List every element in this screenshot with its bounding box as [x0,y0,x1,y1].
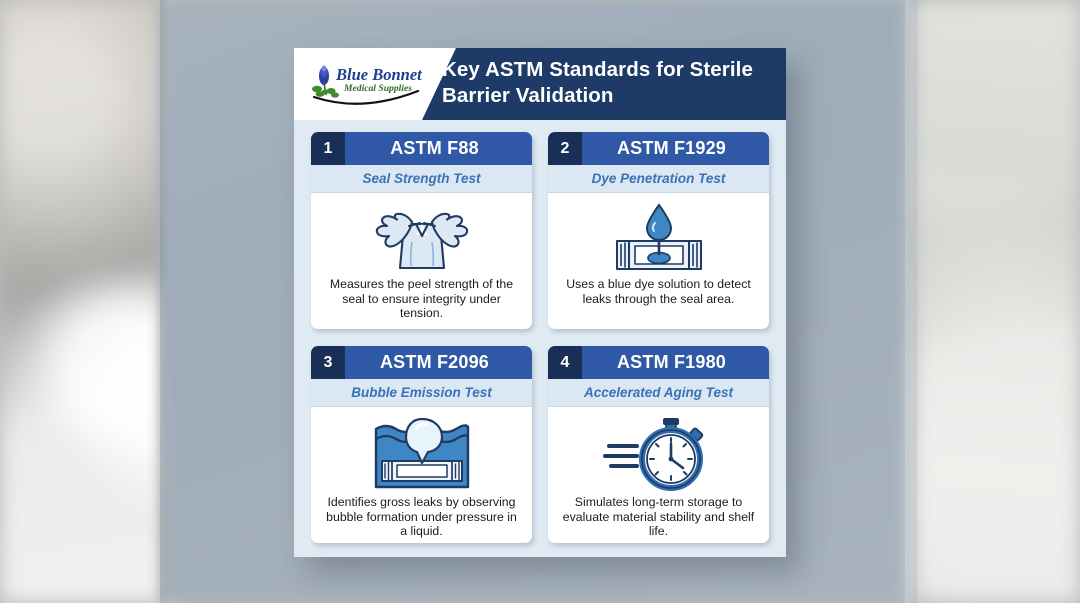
blue-bonnet-logo-icon: Blue Bonnet Medical Supplies [306,61,428,109]
card-description: Measures the peel strength of the seal t… [319,277,524,321]
hands-peeling-pouch-icon [354,201,490,275]
card-number-badge: 2 [548,132,582,165]
panel-header: Blue Bonnet Medical Supplies Key ASTM St… [294,48,786,120]
card-standard-title: ASTM F1929 [582,132,769,165]
svg-text:Blue Bonnet: Blue Bonnet [335,65,422,84]
card-standard-title: ASTM F2096 [345,346,532,379]
card-subtitle: Bubble Emission Test [311,379,532,407]
background-left-bokeh [0,0,168,603]
card-description: Uses a blue dye solution to detect leaks… [556,277,761,306]
card-subtitle: Accelerated Aging Test [548,379,769,407]
page-title: Key ASTM Standards for Sterile Barrier V… [442,57,774,109]
card-astm-f1929[interactable]: 2 ASTM F1929 Dye Penetration Test [548,132,769,329]
card-number-badge: 4 [548,346,582,379]
background-right-wall [912,0,1080,603]
background-seam-left [160,0,170,603]
card-subtitle: Dye Penetration Test [548,165,769,193]
stopwatch-motion-icon [603,415,715,493]
card-body: Measures the peel strength of the seal t… [311,193,532,329]
card-astm-f88[interactable]: 1 ASTM F88 Seal Strength Test [311,132,532,329]
card-astm-f2096[interactable]: 3 ASTM F2096 Bubble Emission Test [311,346,532,543]
card-header: 3 ASTM F2096 [311,346,532,379]
card-standard-title: ASTM F88 [345,132,532,165]
card-body: Identifies gross leaks by observing bubb… [311,407,532,543]
card-body: Simulates long-term storage to evaluate … [548,407,769,543]
card-description: Identifies gross leaks by observing bubb… [319,495,524,539]
card-description: Simulates long-term storage to evaluate … [556,495,761,539]
card-number-badge: 3 [311,346,345,379]
infographic-panel: Blue Bonnet Medical Supplies Key ASTM St… [294,48,786,557]
svg-text:Medical Supplies: Medical Supplies [343,83,412,94]
card-body: Uses a blue dye solution to detect leaks… [548,193,769,329]
dye-droplet-on-pouch-icon [595,201,723,275]
card-standard-title: ASTM F1980 [582,346,769,379]
standards-card-grid: 1 ASTM F88 Seal Strength Test [294,120,786,557]
card-header: 2 ASTM F1929 [548,132,769,165]
screenshot-stage: Blue Bonnet Medical Supplies Key ASTM St… [0,0,1080,603]
card-number-badge: 1 [311,132,345,165]
card-astm-f1980[interactable]: 4 ASTM F1980 Accelerated Aging Test [548,346,769,543]
bubble-in-water-tank-icon [368,415,476,493]
card-header: 4 ASTM F1980 [548,346,769,379]
background-seam-right [905,0,917,603]
card-header: 1 ASTM F88 [311,132,532,165]
card-subtitle: Seal Strength Test [311,165,532,193]
brand-logo: Blue Bonnet Medical Supplies [306,61,428,109]
